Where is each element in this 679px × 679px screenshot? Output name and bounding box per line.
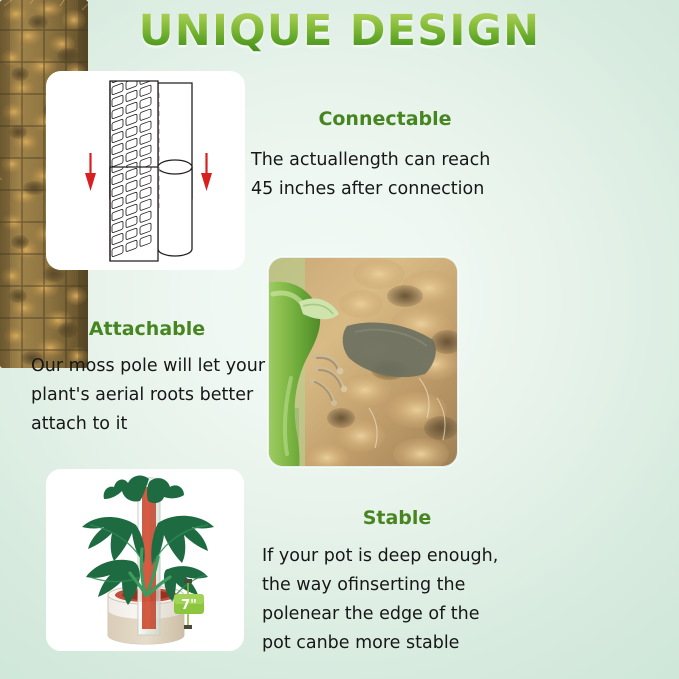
arrow-down-left — [85, 153, 96, 191]
attachable-line-3: attach to it — [31, 410, 265, 439]
attachable-body: Our moss pole will let your plant's aeri… — [31, 352, 265, 439]
stable-line-4: pot canbe more stable — [262, 629, 498, 658]
two-pole-connection-diagram — [46, 71, 245, 270]
connection-diagram-card — [46, 71, 245, 270]
attachable-heading: Attachable — [22, 318, 272, 340]
stable-body: If your pot is deep enough, the way ofin… — [262, 542, 498, 658]
monstera-in-pot-with-pole-illustration: 7" — [46, 469, 244, 651]
infographic-page: UNIQUE DESIGN — [0, 0, 679, 679]
arrow-down-right — [201, 153, 212, 191]
stable-heading: Stable — [252, 507, 542, 529]
stable-line-1: If your pot is deep enough, — [262, 542, 498, 571]
attachable-line-1: Our moss pole will let your — [31, 352, 265, 381]
connectable-body: The actuallength can reach 45 inches aft… — [251, 146, 490, 204]
aerial-roots-photo-card — [268, 257, 458, 467]
plant-illustration-card: 7" — [46, 469, 244, 651]
connectable-line-2: 45 inches after connection — [251, 175, 490, 204]
measure-badge-label: 7" — [181, 598, 197, 613]
connectable-heading: Connectable — [240, 108, 530, 130]
attachable-line-2: plant's aerial roots better — [31, 381, 265, 410]
stable-line-2: the way ofinserting the — [262, 571, 498, 600]
connectable-line-1: The actuallength can reach — [251, 146, 490, 175]
stable-line-3: polenear the edge of the — [262, 600, 498, 629]
page-title: UNIQUE DESIGN — [0, 6, 679, 56]
plant-stem-aerial-roots-photo — [269, 258, 458, 467]
